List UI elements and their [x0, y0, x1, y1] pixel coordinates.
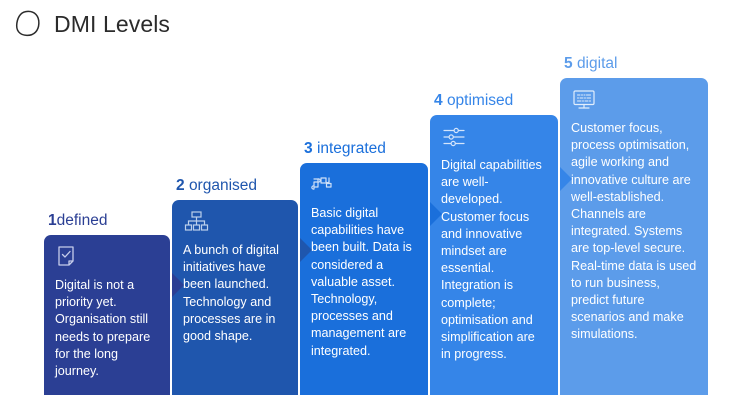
step-1[interactable]: 1defined Digital is not a priority yet. … [44, 235, 170, 395]
step-4-body: Digital capabilities are well-developed.… [430, 115, 558, 395]
step-2-name: organised [189, 177, 257, 194]
step-1-label: 1defined [48, 212, 107, 230]
step-5[interactable]: 5 digital Customer focus, process optimi… [560, 78, 708, 395]
step-3-text: Basic digital capabilities have been bui… [311, 205, 417, 360]
step-3-number: 3 [304, 140, 313, 157]
step-5-label: 5 digital [564, 55, 617, 73]
step-3-name: integrated [317, 140, 386, 157]
step-5-body: Customer focus, process optimisation, ag… [560, 78, 708, 395]
step-1-name: defined [57, 212, 108, 229]
step-1-number: 1 [48, 212, 57, 229]
step-2[interactable]: 2 organised A bunch of digital initiativ… [172, 200, 298, 395]
step-2-label: 2 organised [176, 177, 257, 195]
org-chart-icon [183, 209, 209, 235]
step-4-label: 4 optimised [434, 92, 513, 110]
step-1-text: Digital is not a priority yet. Organisat… [55, 277, 159, 380]
step-2-text: A bunch of digital initiatives have been… [183, 242, 287, 345]
step-1-body: Digital is not a priority yet. Organisat… [44, 235, 170, 395]
step-4-number: 4 [434, 92, 443, 109]
monitor-binary-icon [571, 87, 597, 113]
step-5-name: digital [577, 55, 618, 72]
step-5-number: 5 [564, 55, 573, 72]
puzzle-pieces-icon [311, 172, 337, 198]
dmi-levels-staircase: 1defined Digital is not a priority yet. … [0, 0, 734, 408]
step-3[interactable]: 3 integrated Basic digital capabilities … [300, 163, 428, 395]
step-2-body: A bunch of digital initiatives have been… [172, 200, 298, 395]
step-4[interactable]: 4 optimised Digital capabilities are wel… [430, 115, 558, 395]
step-3-label: 3 integrated [304, 140, 386, 158]
step-5-text: Customer focus, process optimisation, ag… [571, 120, 697, 344]
checklist-document-icon [55, 244, 81, 270]
step-4-name: optimised [447, 92, 513, 109]
step-2-number: 2 [176, 177, 185, 194]
sliders-settings-icon [441, 124, 467, 150]
step-3-body: Basic digital capabilities have been bui… [300, 163, 428, 395]
step-4-text: Digital capabilities are well-developed.… [441, 157, 547, 363]
